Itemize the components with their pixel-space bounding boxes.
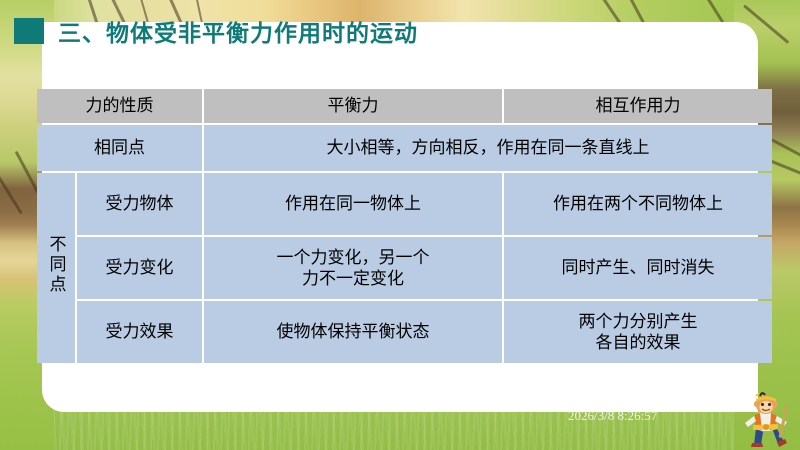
- force-change-balanced: 一个力变化，另一个 力不一定变化: [204, 237, 502, 299]
- row-label-force-effect: 受力效果: [77, 301, 202, 363]
- slide-title-bar: 三、物体受非平衡力作用时的运动: [14, 14, 418, 48]
- row-label-force-object: 受力物体: [77, 173, 202, 235]
- page-title: 三、物体受非平衡力作用时的运动: [58, 14, 418, 48]
- force-object-balanced: 作用在同一物体上: [204, 173, 502, 235]
- force-effect-interaction: 两个力分别产生 各自的效果: [504, 301, 772, 363]
- column-header-balanced: 平衡力: [204, 89, 502, 123]
- comparison-table: 力的性质 平衡力 相互作用力 相同点 大小相等，方向相反，作用在同一条直线上 不…: [35, 87, 774, 365]
- table-row-force-object: 不同点 受力物体 作用在同一物体上 作用在两个不同物体上: [37, 173, 772, 235]
- row-group-label-different-points: 不同点: [37, 173, 75, 363]
- same-point-value: 大小相等，方向相反，作用在同一条直线上: [204, 125, 772, 171]
- force-effect-balanced: 使物体保持平衡状态: [204, 301, 502, 363]
- different-points-vertical-text: 不同点: [48, 235, 65, 295]
- force-change-interaction: 同时产生、同时消失: [504, 237, 772, 299]
- timestamp-label: 2026/3/8 8:26:57: [568, 408, 657, 424]
- table-row-force-change: 受力变化 一个力变化，另一个 力不一定变化 同时产生、同时消失: [37, 237, 772, 299]
- row-label-same-point: 相同点: [37, 125, 202, 171]
- column-header-interaction: 相互作用力: [504, 89, 772, 123]
- force-object-interaction: 作用在两个不同物体上: [504, 173, 772, 235]
- slide-canvas: 三、物体受非平衡力作用时的运动 力的性质 平衡力 相互作用力 相同点 大小相等，…: [0, 0, 800, 450]
- row-label-force-change: 受力变化: [77, 237, 202, 299]
- table-row-force-effect: 受力效果 使物体保持平衡状态 两个力分别产生 各自的效果: [37, 301, 772, 363]
- square-bullet-icon: [14, 18, 44, 44]
- monkey-king-mascot-icon: [738, 392, 794, 448]
- column-header-nature: 力的性质: [37, 89, 202, 123]
- comparison-table-wrap: 力的性质 平衡力 相互作用力 相同点 大小相等，方向相反，作用在同一条直线上 不…: [35, 87, 768, 365]
- table-header-row: 力的性质 平衡力 相互作用力: [37, 89, 772, 123]
- table-row-same-point: 相同点 大小相等，方向相反，作用在同一条直线上: [37, 125, 772, 171]
